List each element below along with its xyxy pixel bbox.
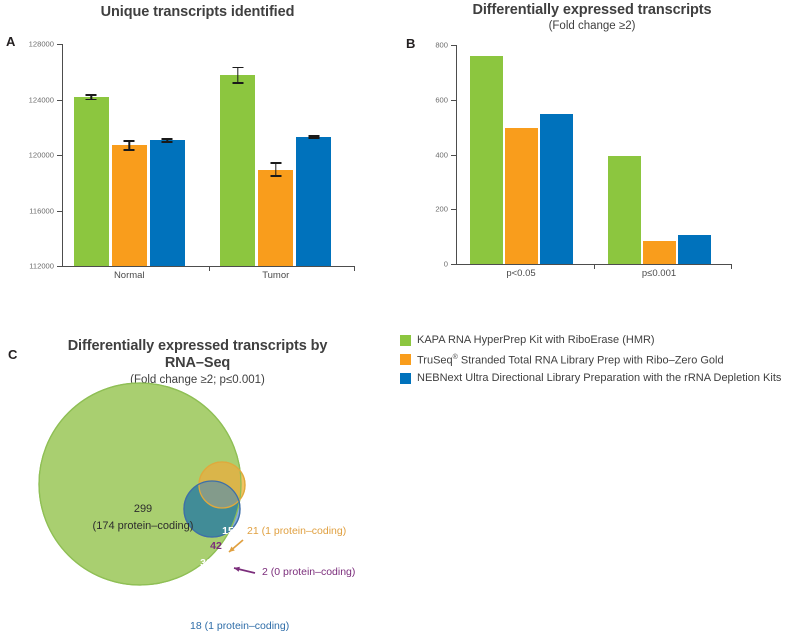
error-bar-cap-top — [162, 138, 173, 140]
bar — [470, 56, 503, 264]
error-bar-cap-top — [86, 94, 97, 96]
bar — [540, 114, 573, 264]
bar — [112, 145, 147, 266]
y-tick-label: 400 — [435, 150, 448, 159]
y-tick-label: 120000 — [29, 151, 54, 160]
bar — [505, 128, 538, 264]
x-group-label: Tumor — [262, 270, 289, 281]
y-tick-label: 128000 — [29, 40, 54, 49]
y-tick-label: 112000 — [29, 262, 54, 271]
venn-diagram: 299(174 protein–coding)15423621 (1 prote… — [0, 382, 395, 594]
venn-label-green-only-count: 299 — [134, 503, 152, 515]
legend-item-label: NEBNext Ultra Directional Library Prepar… — [417, 372, 781, 385]
bar — [220, 75, 255, 266]
legend-swatch-green — [400, 335, 411, 346]
y-tick-label: 600 — [435, 95, 448, 104]
figure-root: A Unique transcripts identified 11200011… — [0, 0, 789, 594]
panel-a-plot: 112000116000120000124000128000NormalTumo… — [0, 0, 395, 300]
x-group-divider-tick — [594, 264, 595, 269]
x-axis-end-tick — [354, 266, 355, 271]
legend-item-label: TruSeq® Stranded Total RNA Library Prep … — [417, 351, 724, 368]
panel-b: B Differentially expressed transcripts (… — [395, 0, 789, 300]
venn-svg — [0, 382, 395, 594]
panel-a: A Unique transcripts identified 11200011… — [0, 0, 395, 300]
error-bar-cap-top — [270, 162, 281, 164]
y-tick-label: 0 — [444, 260, 448, 269]
x-group-label: Normal — [114, 270, 145, 281]
y-tick-mark — [451, 100, 456, 101]
y-tick-mark — [451, 209, 456, 210]
shared-legend: KAPA RNA HyperPrep Kit with RiboErase (H… — [400, 332, 789, 392]
bar — [258, 170, 293, 266]
error-bar-cap-bottom — [270, 175, 281, 177]
venn-label-green-blue: 36 — [200, 557, 212, 569]
venn-callout-overlap: 2 (0 protein–coding) — [262, 566, 355, 578]
y-axis-line — [456, 45, 457, 264]
error-bar-cap-top — [124, 140, 135, 142]
x-group-label: p<0.05 — [506, 268, 535, 279]
venn-callout-truseq: 21 (1 protein–coding) — [247, 525, 346, 537]
bar — [74, 97, 109, 266]
y-axis-line — [62, 44, 63, 266]
panel-c: C Differentially expressed transcripts b… — [0, 330, 395, 594]
legend-item: NEBNext Ultra Directional Library Prepar… — [400, 370, 789, 387]
callout-arrow-overlap — [234, 567, 255, 573]
x-group-label: p≤0.001 — [642, 268, 676, 279]
y-tick-mark — [57, 44, 62, 45]
legend-item: KAPA RNA HyperPrep Kit with RiboErase (H… — [400, 332, 789, 349]
bar — [608, 156, 641, 264]
panel-c-title-line1: Differentially expressed transcripts by — [0, 338, 395, 355]
y-tick-mark — [451, 45, 456, 46]
y-tick-label: 800 — [435, 41, 448, 50]
y-tick-label: 116000 — [29, 206, 54, 215]
panel-c-title-line2: RNA–Seq — [0, 355, 395, 372]
y-tick-mark — [57, 100, 62, 101]
venn-callout-nebnext: 18 (1 protein–coding) — [190, 620, 289, 632]
bar — [150, 140, 185, 266]
callout-arrow-truseq — [229, 540, 243, 552]
y-tick-mark — [451, 264, 456, 265]
venn-label-green-orange: 15 — [222, 525, 234, 537]
error-bar-cap-bottom — [124, 149, 135, 151]
legend-swatch-blue — [400, 373, 411, 384]
legend-swatch-orange — [400, 354, 411, 365]
y-tick-mark — [57, 155, 62, 156]
y-tick-label: 124000 — [29, 95, 54, 104]
y-tick-mark — [57, 266, 62, 267]
error-bar-cap-bottom — [232, 82, 243, 84]
bar — [678, 235, 711, 264]
legend-item-label: KAPA RNA HyperPrep Kit with RiboErase (H… — [417, 334, 655, 347]
y-tick-mark — [57, 211, 62, 212]
venn-label-triple: 42 — [210, 540, 222, 552]
error-bar-cap-bottom — [86, 99, 97, 101]
bar — [296, 137, 331, 266]
bar — [643, 241, 676, 264]
panel-b-plot: 0200400600800p<0.05p≤0.001 — [395, 0, 789, 300]
y-tick-label: 200 — [435, 205, 448, 214]
legend-item: TruSeq® Stranded Total RNA Library Prep … — [400, 351, 789, 368]
error-bar-cap-bottom — [162, 141, 173, 143]
error-bar-cap-top — [232, 67, 243, 69]
venn-label-green-only-sub: (174 protein–coding) — [93, 520, 194, 532]
x-axis-end-tick — [731, 264, 732, 269]
error-bar-cap-bottom — [308, 137, 319, 139]
y-tick-mark — [451, 155, 456, 156]
x-group-divider-tick — [209, 266, 210, 271]
